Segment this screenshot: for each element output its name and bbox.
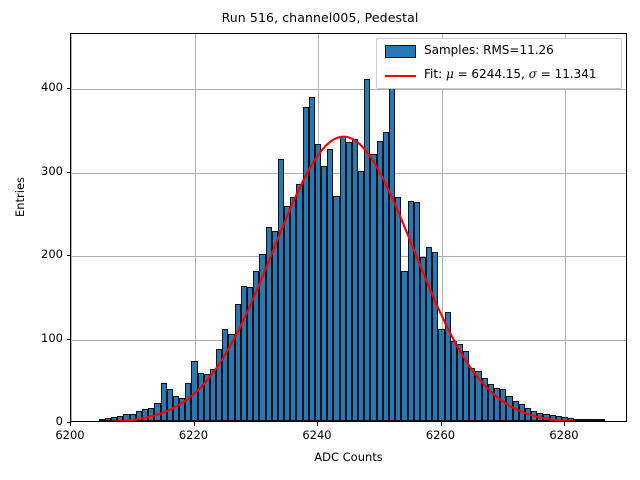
y-axis-tick-label: 100 (18, 331, 63, 345)
legend-swatch-line-icon (385, 75, 416, 77)
x-axis-tick-mark (317, 422, 318, 426)
y-axis-tick-label: 400 (18, 80, 63, 94)
sigma-symbol: σ (529, 67, 537, 81)
legend-swatch-bar-icon (385, 45, 416, 58)
plot-area (70, 33, 627, 422)
y-axis-tick-mark (67, 88, 71, 89)
y-axis-tick-label: 200 (18, 247, 63, 261)
y-axis-tick-label: 0 (18, 414, 63, 428)
y-axis-tick-mark (67, 172, 71, 173)
fit-curve-layer (71, 34, 626, 421)
x-axis-tick-mark (441, 422, 442, 426)
x-axis-tick-label: 6280 (529, 428, 599, 442)
x-axis-label: ADC Counts (70, 450, 627, 464)
x-axis-tick-label: 6200 (35, 428, 105, 442)
x-axis-tick-mark (194, 422, 195, 426)
legend-label-samples: Samples: RMS=11.26 (424, 43, 554, 57)
x-axis-tick-label: 6260 (406, 428, 476, 442)
x-axis-tick-label: 6220 (159, 428, 229, 442)
y-axis-tick-mark (67, 255, 71, 256)
mu-symbol: μ (446, 67, 454, 81)
legend-entry-fit: Fit: μ = 6244.15, σ = 11.341 (377, 64, 621, 88)
y-axis-tick-mark (67, 339, 71, 340)
legend-entry-samples: Samples: RMS=11.26 (377, 40, 621, 64)
fit-curve-svg (71, 34, 627, 422)
page-title: Run 516, channel005, Pedestal (0, 10, 640, 25)
x-axis-tick-mark (70, 422, 71, 426)
x-axis-tick-mark (564, 422, 565, 426)
legend-label-fit: Fit: μ = 6244.15, σ = 11.341 (424, 67, 597, 81)
y-axis-label: Entries (13, 147, 27, 247)
fit-curve-path (71, 137, 627, 422)
x-axis-tick-label: 6240 (282, 428, 352, 442)
chart-figure: Run 516, channel005, Pedestal 0100200300… (0, 0, 640, 480)
chart-legend: Samples: RMS=11.26 Fit: μ = 6244.15, σ =… (376, 38, 622, 89)
